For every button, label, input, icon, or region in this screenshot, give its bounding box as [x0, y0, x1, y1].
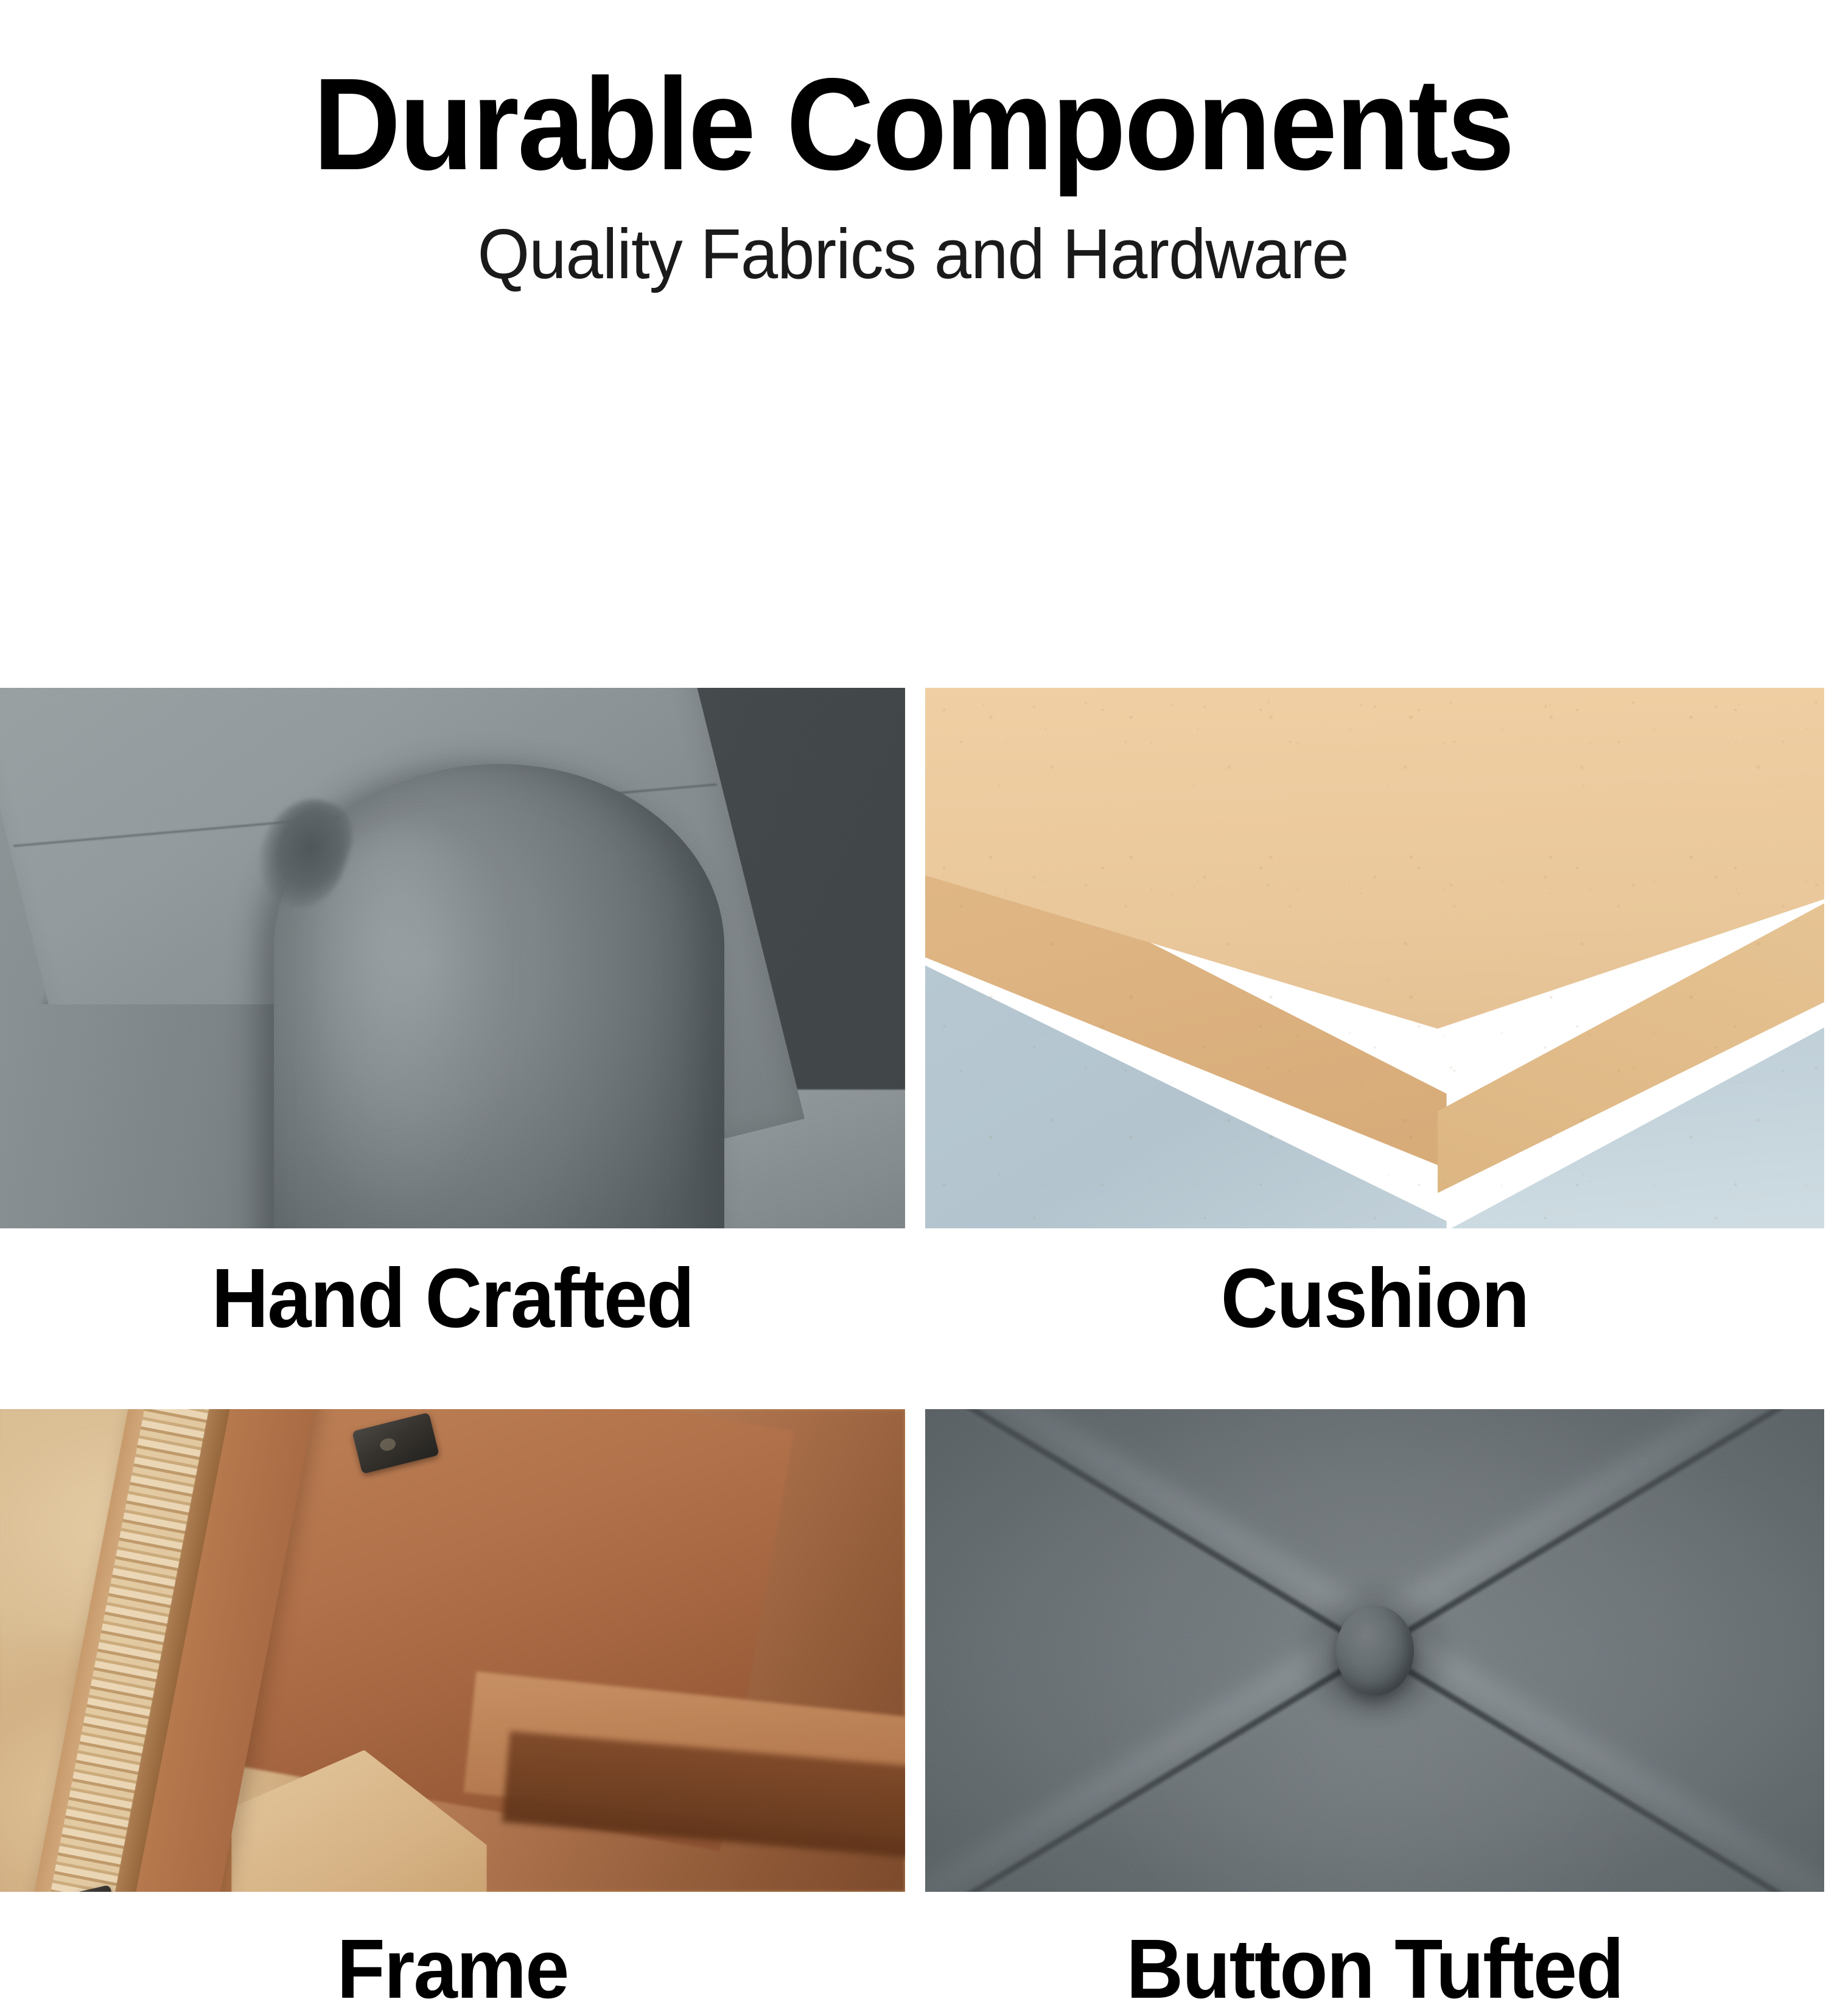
sofa-arm-highlight	[317, 828, 499, 1205]
frame-photo	[0, 1409, 905, 1892]
feature-panel-cushion: Cushion	[925, 688, 1824, 1340]
cushion-photo	[925, 688, 1824, 1228]
feature-grid: Hand Crafted Cushion	[0, 289, 1826, 1768]
page-title: Durable Components	[64, 58, 1762, 189]
button-tufted-photo	[925, 1409, 1824, 1892]
caption-frame: Frame	[27, 1892, 878, 2011]
tuft-fabric-button	[1336, 1606, 1414, 1696]
feature-panel-button-tufted: Button Tufted	[925, 1409, 1824, 2011]
caption-hand-crafted: Hand Crafted	[27, 1228, 878, 1340]
feature-panel-hand-crafted: Hand Crafted	[0, 688, 905, 1340]
header: Durable Components Quality Fabrics and H…	[0, 0, 1826, 289]
caption-cushion: Cushion	[952, 1228, 1797, 1340]
page-subtitle: Quality Fabrics and Hardware	[46, 189, 1780, 289]
feature-panel-frame: Frame	[0, 1409, 905, 2011]
caption-button-tufted: Button Tufted	[952, 1892, 1797, 2011]
hand-crafted-photo	[0, 688, 905, 1228]
